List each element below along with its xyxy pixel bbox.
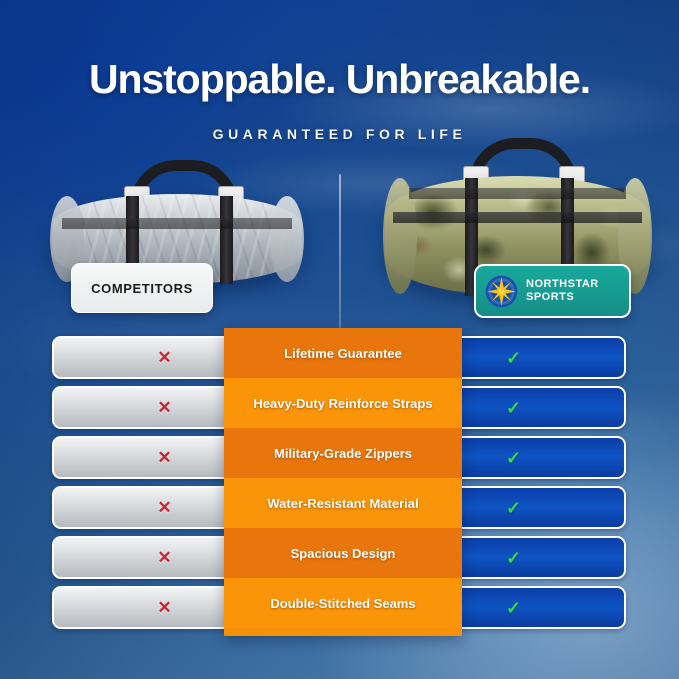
check-icon: ✓ [506, 449, 521, 467]
feature-label: Heavy-Duty Reinforce Straps [224, 378, 462, 428]
bag-strap [393, 212, 642, 223]
infographic-canvas: Unstoppable. Unbreakable. GUARANTEED FOR… [0, 0, 679, 679]
bag-strap [220, 196, 233, 284]
cross-icon: ✕ [157, 549, 171, 566]
vertical-divider [339, 174, 341, 332]
feature-label: Military-Grade Zippers [224, 428, 462, 478]
feature-label: Lifetime Guarantee [224, 328, 462, 378]
feature-label: Double-Stitched Seams [224, 578, 462, 628]
brand-name: NORTHSTAR SPORTS [526, 278, 599, 305]
bag-strap [409, 188, 626, 199]
bag-end-right [270, 196, 304, 282]
check-icon: ✓ [506, 499, 521, 517]
northstar-brand-badge: NORTHSTAR SPORTS [474, 264, 631, 318]
cross-icon: ✕ [157, 399, 171, 416]
cross-icon: ✕ [157, 599, 171, 616]
bag-strap [62, 218, 292, 229]
check-icon: ✓ [506, 549, 521, 567]
brand-name-line2: SPORTS [526, 291, 599, 304]
page-subheadline: GUARANTEED FOR LIFE [0, 126, 679, 142]
check-icon: ✓ [506, 349, 521, 367]
feature-label: Spacious Design [224, 528, 462, 578]
competitors-label: COMPETITORS [71, 263, 213, 313]
feature-label: Water-Resistant Material [224, 478, 462, 528]
compass-star-logo-icon [485, 275, 518, 308]
brand-name-line1: NORTHSTAR [526, 278, 599, 291]
check-icon: ✓ [506, 599, 521, 617]
cross-icon: ✕ [157, 349, 171, 366]
cross-icon: ✕ [157, 499, 171, 516]
cross-icon: ✕ [157, 449, 171, 466]
page-headline: Unstoppable. Unbreakable. [0, 56, 679, 103]
check-icon: ✓ [506, 399, 521, 417]
feature-label-column: Lifetime Guarantee Heavy-Duty Reinforce … [224, 328, 462, 636]
